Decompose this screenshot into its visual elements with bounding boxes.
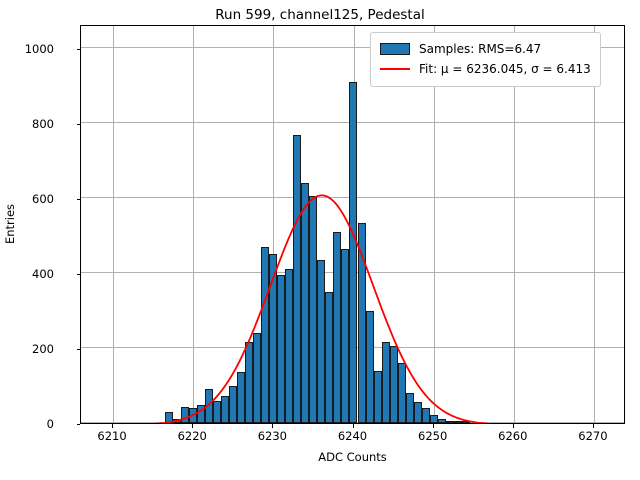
histogram-bar xyxy=(165,412,173,423)
y-tick-mark xyxy=(77,199,81,200)
x-tick-mark xyxy=(593,424,594,428)
histogram-bar xyxy=(349,82,357,423)
histogram-bar xyxy=(269,254,277,423)
y-tick-label: 600 xyxy=(32,192,54,206)
x-tick-label: 6230 xyxy=(258,429,287,443)
histogram-bar xyxy=(462,421,470,423)
histogram-bar xyxy=(341,249,349,423)
histogram-bar xyxy=(237,372,245,423)
histogram-bar xyxy=(382,342,390,423)
histogram-bar xyxy=(374,371,382,423)
histogram-bar xyxy=(446,421,454,423)
legend-item-fit: Fit: μ = 6236.045, σ = 6.413 xyxy=(380,59,591,79)
histogram-bar xyxy=(438,419,446,424)
legend-swatch-samples-icon xyxy=(380,43,410,55)
y-tick-mark xyxy=(77,274,81,275)
histogram-bar xyxy=(430,415,438,423)
histogram-bar xyxy=(285,269,293,423)
x-axis-label: ADC Counts xyxy=(80,450,625,464)
chart-legend: Samples: RMS=6.47 Fit: μ = 6236.045, σ =… xyxy=(370,32,601,87)
x-tick-label: 6250 xyxy=(418,429,447,443)
y-tick-label: 1000 xyxy=(25,42,54,56)
histogram-bar xyxy=(221,396,229,423)
x-tick-mark xyxy=(513,424,514,428)
y-tick-mark xyxy=(77,124,81,125)
histogram-bar xyxy=(454,421,462,423)
x-tick-mark xyxy=(192,424,193,428)
legend-item-samples: Samples: RMS=6.47 xyxy=(380,39,591,59)
histogram-bar xyxy=(390,346,398,423)
histogram-bar xyxy=(197,405,205,423)
histogram-bar xyxy=(173,419,181,423)
y-tick-mark xyxy=(77,49,81,50)
y-tick-label: 0 xyxy=(47,417,54,431)
gridline-vertical xyxy=(113,26,114,423)
histogram-bar xyxy=(406,393,414,423)
y-axis-label: Entries xyxy=(3,204,17,244)
histogram-bar xyxy=(333,232,341,423)
histogram-bar xyxy=(189,408,197,423)
histogram-bar xyxy=(253,333,261,423)
histogram-bar xyxy=(358,223,366,423)
legend-label-fit: Fit: μ = 6236.045, σ = 6.413 xyxy=(419,62,591,76)
chart-figure: Run 599, channel125, Pedestal 6210622062… xyxy=(0,0,640,480)
x-tick-label: 6210 xyxy=(97,429,126,443)
histogram-bar xyxy=(213,401,221,423)
histogram-bar xyxy=(301,183,309,423)
histogram-bar xyxy=(277,275,285,423)
histogram-bar xyxy=(205,389,213,423)
x-tick-label: 6240 xyxy=(338,429,367,443)
y-tick-label: 800 xyxy=(32,117,54,131)
histogram-bar xyxy=(261,247,269,423)
legend-label-samples: Samples: RMS=6.47 xyxy=(419,42,541,56)
y-tick-mark xyxy=(77,349,81,350)
x-tick-mark xyxy=(112,424,113,428)
legend-swatch-fit-icon xyxy=(380,63,410,75)
x-tick-mark xyxy=(433,424,434,428)
histogram-bar xyxy=(317,260,325,423)
y-tick-label: 200 xyxy=(32,342,54,356)
histogram-bar xyxy=(293,135,301,423)
y-tick-mark xyxy=(77,424,81,425)
histogram-bar xyxy=(398,363,406,423)
histogram-bar xyxy=(422,408,430,423)
histogram-bar xyxy=(325,292,333,423)
histogram-bar xyxy=(414,402,422,423)
x-tick-label: 6260 xyxy=(498,429,527,443)
x-tick-label: 6220 xyxy=(178,429,207,443)
histogram-bar xyxy=(245,342,253,423)
gridline-vertical xyxy=(193,26,194,423)
y-tick-label: 400 xyxy=(32,267,54,281)
histogram-bar xyxy=(229,386,237,423)
x-tick-mark xyxy=(272,424,273,428)
histogram-bar xyxy=(366,311,374,423)
x-tick-mark xyxy=(353,424,354,428)
chart-title: Run 599, channel125, Pedestal xyxy=(0,7,640,23)
histogram-bar xyxy=(309,196,317,423)
histogram-bar xyxy=(181,407,189,423)
x-tick-label: 6270 xyxy=(578,429,607,443)
